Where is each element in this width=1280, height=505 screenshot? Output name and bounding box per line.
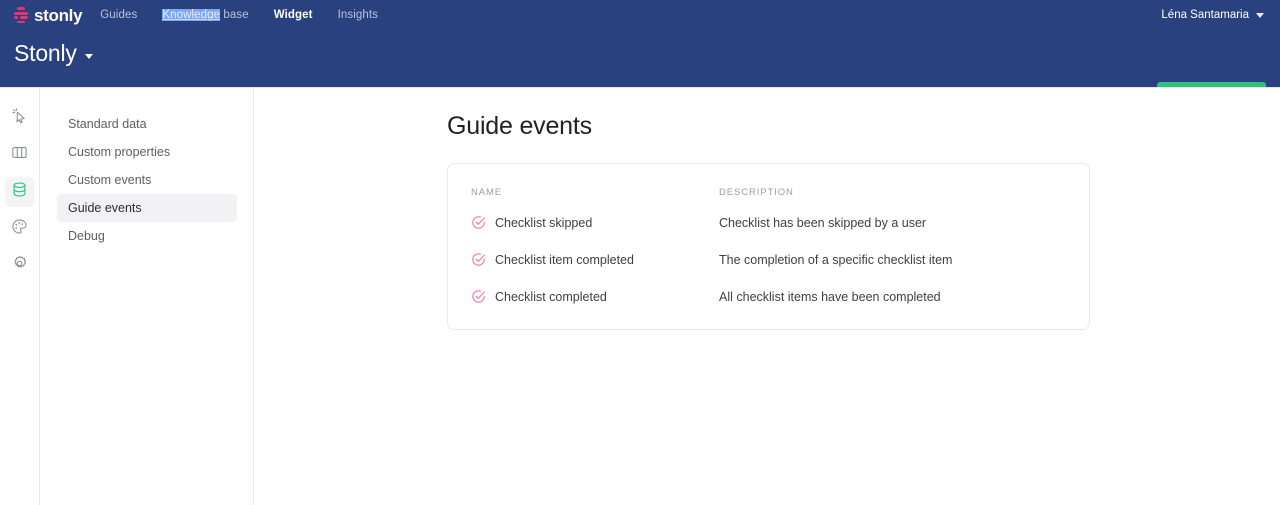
event-name-label: Checklist completed — [495, 290, 607, 304]
nav-item-widget[interactable]: Widget — [274, 9, 313, 21]
user-account-menu[interactable]: Léna Santamaria — [1161, 0, 1264, 30]
icon-rail — [0, 88, 40, 505]
sidebar-item-custom-properties[interactable]: Custom properties — [57, 138, 237, 166]
main-content: Guide events NAME DESCRIPTION Checklist … — [255, 88, 1280, 505]
nav-item-knowledge-base-rest-text: base — [220, 9, 249, 21]
cell-event-description: The completion of a specific checklist i… — [719, 253, 952, 267]
rail-item-cursor-sparkle[interactable] — [5, 103, 35, 133]
chevron-down-icon — [1256, 13, 1264, 18]
caret-down-icon — [85, 54, 93, 59]
table-header-row: NAME DESCRIPTION — [448, 164, 1089, 204]
check-circle-icon — [471, 252, 486, 267]
column-header-name: NAME — [471, 187, 719, 198]
layout-columns-icon — [11, 144, 28, 166]
primary-nav: Guides Knowledge base Widget Insights — [100, 9, 378, 21]
workspace-selector[interactable]: Stonly — [14, 42, 93, 65]
workspace-sub-header: Stonly Widget activated — [0, 30, 1280, 88]
top-navigation-bar: stonly Guides Knowledge base Widget Insi… — [0, 0, 1280, 30]
table-row[interactable]: Checklist completed All checklist items … — [448, 278, 1089, 315]
cursor-sparkle-icon — [11, 107, 28, 129]
cell-event-name: Checklist completed — [471, 289, 719, 304]
cell-event-description: All checklist items have been completed — [719, 290, 941, 304]
stonly-logo-icon — [14, 7, 28, 23]
event-name-label: Checklist skipped — [495, 216, 592, 230]
sidebar-item-custom-events[interactable]: Custom events — [57, 166, 237, 194]
cell-event-name: Checklist item completed — [471, 252, 719, 267]
page-title: Guide events — [447, 112, 592, 141]
event-name-label: Checklist item completed — [495, 253, 634, 267]
sidebar-item-label: Guide events — [68, 201, 142, 215]
check-circle-icon — [471, 289, 486, 304]
workspace-name: Stonly — [14, 42, 77, 65]
sidebar-item-standard-data[interactable]: Standard data — [57, 110, 237, 138]
rail-item-palette[interactable] — [5, 214, 35, 244]
nav-item-knowledge-base-selected-text: Knowledge — [162, 9, 220, 21]
rail-item-layout-columns[interactable] — [5, 140, 35, 170]
sidebar-item-guide-events[interactable]: Guide events — [57, 194, 237, 222]
table-row[interactable]: Checklist item completed The completion … — [448, 241, 1089, 278]
stonly-logo[interactable]: stonly — [14, 7, 82, 24]
gear-icon — [11, 255, 28, 277]
user-name-label: Léna Santamaria — [1161, 9, 1249, 21]
sidebar-item-label: Custom events — [68, 173, 151, 187]
nav-item-guides[interactable]: Guides — [100, 9, 137, 21]
rail-item-database[interactable] — [5, 177, 35, 207]
check-circle-icon — [471, 215, 486, 230]
nav-item-insights[interactable]: Insights — [338, 9, 378, 21]
rail-item-settings[interactable] — [5, 251, 35, 281]
sidebar-item-label: Custom properties — [68, 145, 170, 159]
palette-icon — [11, 218, 28, 240]
secondary-sidebar: Standard data Custom properties Custom e… — [41, 88, 254, 505]
database-icon — [11, 181, 28, 203]
nav-item-knowledge-base[interactable]: Knowledge base — [162, 9, 248, 21]
sidebar-item-debug[interactable]: Debug — [57, 222, 237, 250]
table-row[interactable]: Checklist skipped Checklist has been ski… — [448, 204, 1089, 241]
cell-event-description: Checklist has been skipped by a user — [719, 216, 926, 230]
logo-text: stonly — [34, 7, 82, 24]
sidebar-item-label: Debug — [68, 229, 105, 243]
cell-event-name: Checklist skipped — [471, 215, 719, 230]
column-header-description: DESCRIPTION — [719, 187, 794, 198]
guide-events-table-card: NAME DESCRIPTION Checklist skipped Check… — [447, 163, 1090, 330]
sidebar-item-label: Standard data — [68, 117, 147, 131]
